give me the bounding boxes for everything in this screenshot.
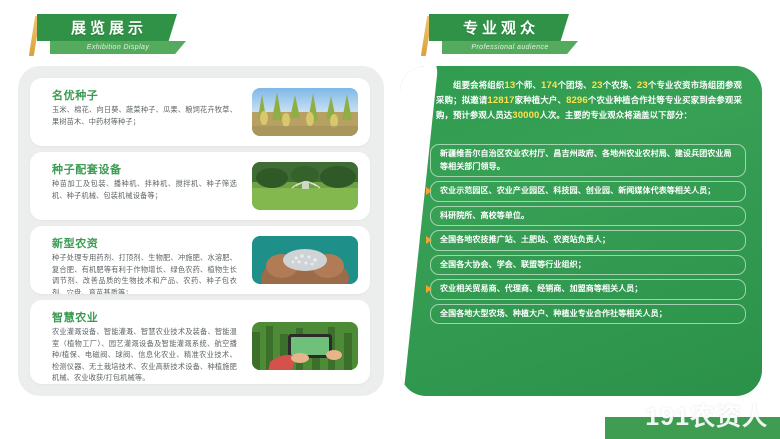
- arrow-right-icon: [426, 236, 432, 244]
- card-body: 种子处理专用药剂、打顶剂、生物肥、冲施肥、水溶肥、复合肥、有机肥等有利于作物增长…: [52, 252, 237, 294]
- intro-number: 23: [592, 80, 603, 91]
- audience-list-item: 全国各大协会、学会、联盟等行业组织；: [430, 255, 746, 276]
- corn-field-photo: [252, 88, 358, 136]
- audience-list-item-label: 农业相关贸易商、代理商、经销商、加盟商等相关人员；: [440, 284, 643, 293]
- audience-list-item-label: 全国各地农技推广站、土肥站、农资站负责人；: [440, 235, 610, 244]
- exhibition-card-seeds: 名优种子 玉米、棉花、向日葵、蔬菜种子、瓜果、粮饲花卉牧草、果树苗木、中药材等种…: [30, 78, 370, 146]
- intro-text: 个师、: [515, 80, 541, 90]
- banner-sub-exhibition: Exhibition Display: [50, 41, 186, 54]
- banner-subtitle-exhibition: Exhibition Display: [87, 44, 149, 51]
- audience-panel: 组要会将组织13个师、174个团场、23个农场、23个专业农资市场组团参观采购；…: [400, 66, 762, 396]
- exhibition-card-seed-equipment: 种子配套设备 种苗加工及包装、播种机、拌种机、搅拌机、种子筛选机、种子机械、包装…: [30, 152, 370, 220]
- intro-number: 23: [637, 80, 648, 91]
- banner-main-audience: 专业观众: [429, 14, 569, 41]
- audience-list-item: 农业示范园区、农业产业园区、科技园、创业园、新闻媒体代表等相关人员；: [430, 181, 746, 202]
- audience-list-item-label: 全国各大协会、学会、联盟等行业组织；: [440, 260, 586, 269]
- audience-list-item-label: 全国各地大型农场、种植大户、种植业专业合作社等相关人员；: [440, 309, 667, 318]
- card-title: 新型农资: [52, 235, 98, 251]
- audience-list-item-label: 新疆维吾尔自治区农业农村厅、昌吉州政府、各地州农业农村局、建设兵团农业局等相关部…: [440, 149, 732, 171]
- audience-intro-paragraph: 组要会将组织13个师、174个团场、23个农场、23个专业农资市场组团参观采购；…: [436, 78, 742, 123]
- intro-text: 家种植大户、: [515, 95, 566, 105]
- audience-list-item-label: 科研院所、高校等单位。: [440, 211, 529, 220]
- intro-text: 个团场、: [557, 80, 591, 90]
- watermark-band-green: [605, 417, 780, 439]
- card-title: 智慧农业: [52, 309, 98, 325]
- intro-text: 个农场、: [603, 80, 637, 90]
- exhibition-panel: 名优种子 玉米、棉花、向日葵、蔬菜种子、瓜果、粮饲花卉牧草、果树苗木、中药材等种…: [18, 66, 384, 396]
- intro-number: 13: [504, 80, 515, 91]
- intro-number: 174: [541, 80, 557, 91]
- card-title: 名优种子: [52, 87, 98, 103]
- watermark-band-white: [605, 397, 780, 417]
- intro-number: 8296: [566, 95, 588, 106]
- intro-number: 30000: [512, 110, 539, 121]
- exhibition-card-smart-agriculture: 智慧农业 农业灌溉设备、智能灌溉、智慧农业技术及装备、智能温室（植物工厂）、园艺…: [30, 300, 370, 384]
- audience-list-item: 新疆维吾尔自治区农业农村厅、昌吉州政府、各地州农业农村局、建设兵团农业局等相关部…: [430, 144, 746, 177]
- banner-main-exhibition: 展览展示: [37, 14, 177, 41]
- audience-list-item: 科研院所、高校等单位。: [430, 206, 746, 227]
- exhibition-card-new-agri-inputs: 新型农资 种子处理专用药剂、打顶剂、生物肥、冲施肥、水溶肥、复合肥、有机肥等有利…: [30, 226, 370, 294]
- tablet-in-field-photo: [252, 322, 358, 370]
- arrow-right-icon: [426, 285, 432, 293]
- audience-list-item-label: 农业示范园区、农业产业园区、科技园、创业园、新闻媒体代表等相关人员；: [440, 186, 715, 195]
- poster-page: 展览展示 Exhibition Display 专业观众 Professiona…: [0, 0, 780, 439]
- intro-number: 12817: [487, 95, 514, 106]
- audience-list-item: 农业相关贸易商、代理商、经销商、加盟商等相关人员；: [430, 279, 746, 300]
- intro-text: 人次。主要的专业观众将涵盖以下部分：: [539, 110, 692, 120]
- audience-list-item: 全国各地大型农场、种植大户、种植业专业合作社等相关人员；: [430, 304, 746, 325]
- irrigation-sprinkler-photo: [252, 162, 358, 210]
- card-body: 玉米、棉花、向日葵、蔬菜种子、瓜果、粮饲花卉牧草、果树苗木、中药材等种子；: [52, 104, 237, 127]
- audience-list-item: 全国各地农技推广站、土肥站、农资站负责人；: [430, 230, 746, 251]
- banner-title-audience: 专业观众: [459, 17, 539, 38]
- banner-sub-audience: Professional audience: [442, 41, 578, 54]
- card-title: 种子配套设备: [52, 161, 122, 177]
- banner-title-exhibition: 展览展示: [67, 17, 147, 38]
- card-body: 农业灌溉设备、智能灌溉、智慧农业技术及装备、智能温室（植物工厂）、园艺灌溉设备及…: [52, 326, 237, 384]
- arrow-right-icon: [426, 187, 432, 195]
- audience-list: 新疆维吾尔自治区农业农村厅、昌吉州政府、各地州农业农村局、建设兵团农业局等相关部…: [430, 144, 746, 328]
- banner-subtitle-audience: Professional audience: [471, 44, 548, 51]
- intro-text: 组要会将组织: [453, 80, 504, 90]
- fertilizer-in-hands-photo: [252, 236, 358, 284]
- card-body: 种苗加工及包装、播种机、拌种机、搅拌机、种子筛选机、种子机械、包装机械设备等；: [52, 178, 237, 201]
